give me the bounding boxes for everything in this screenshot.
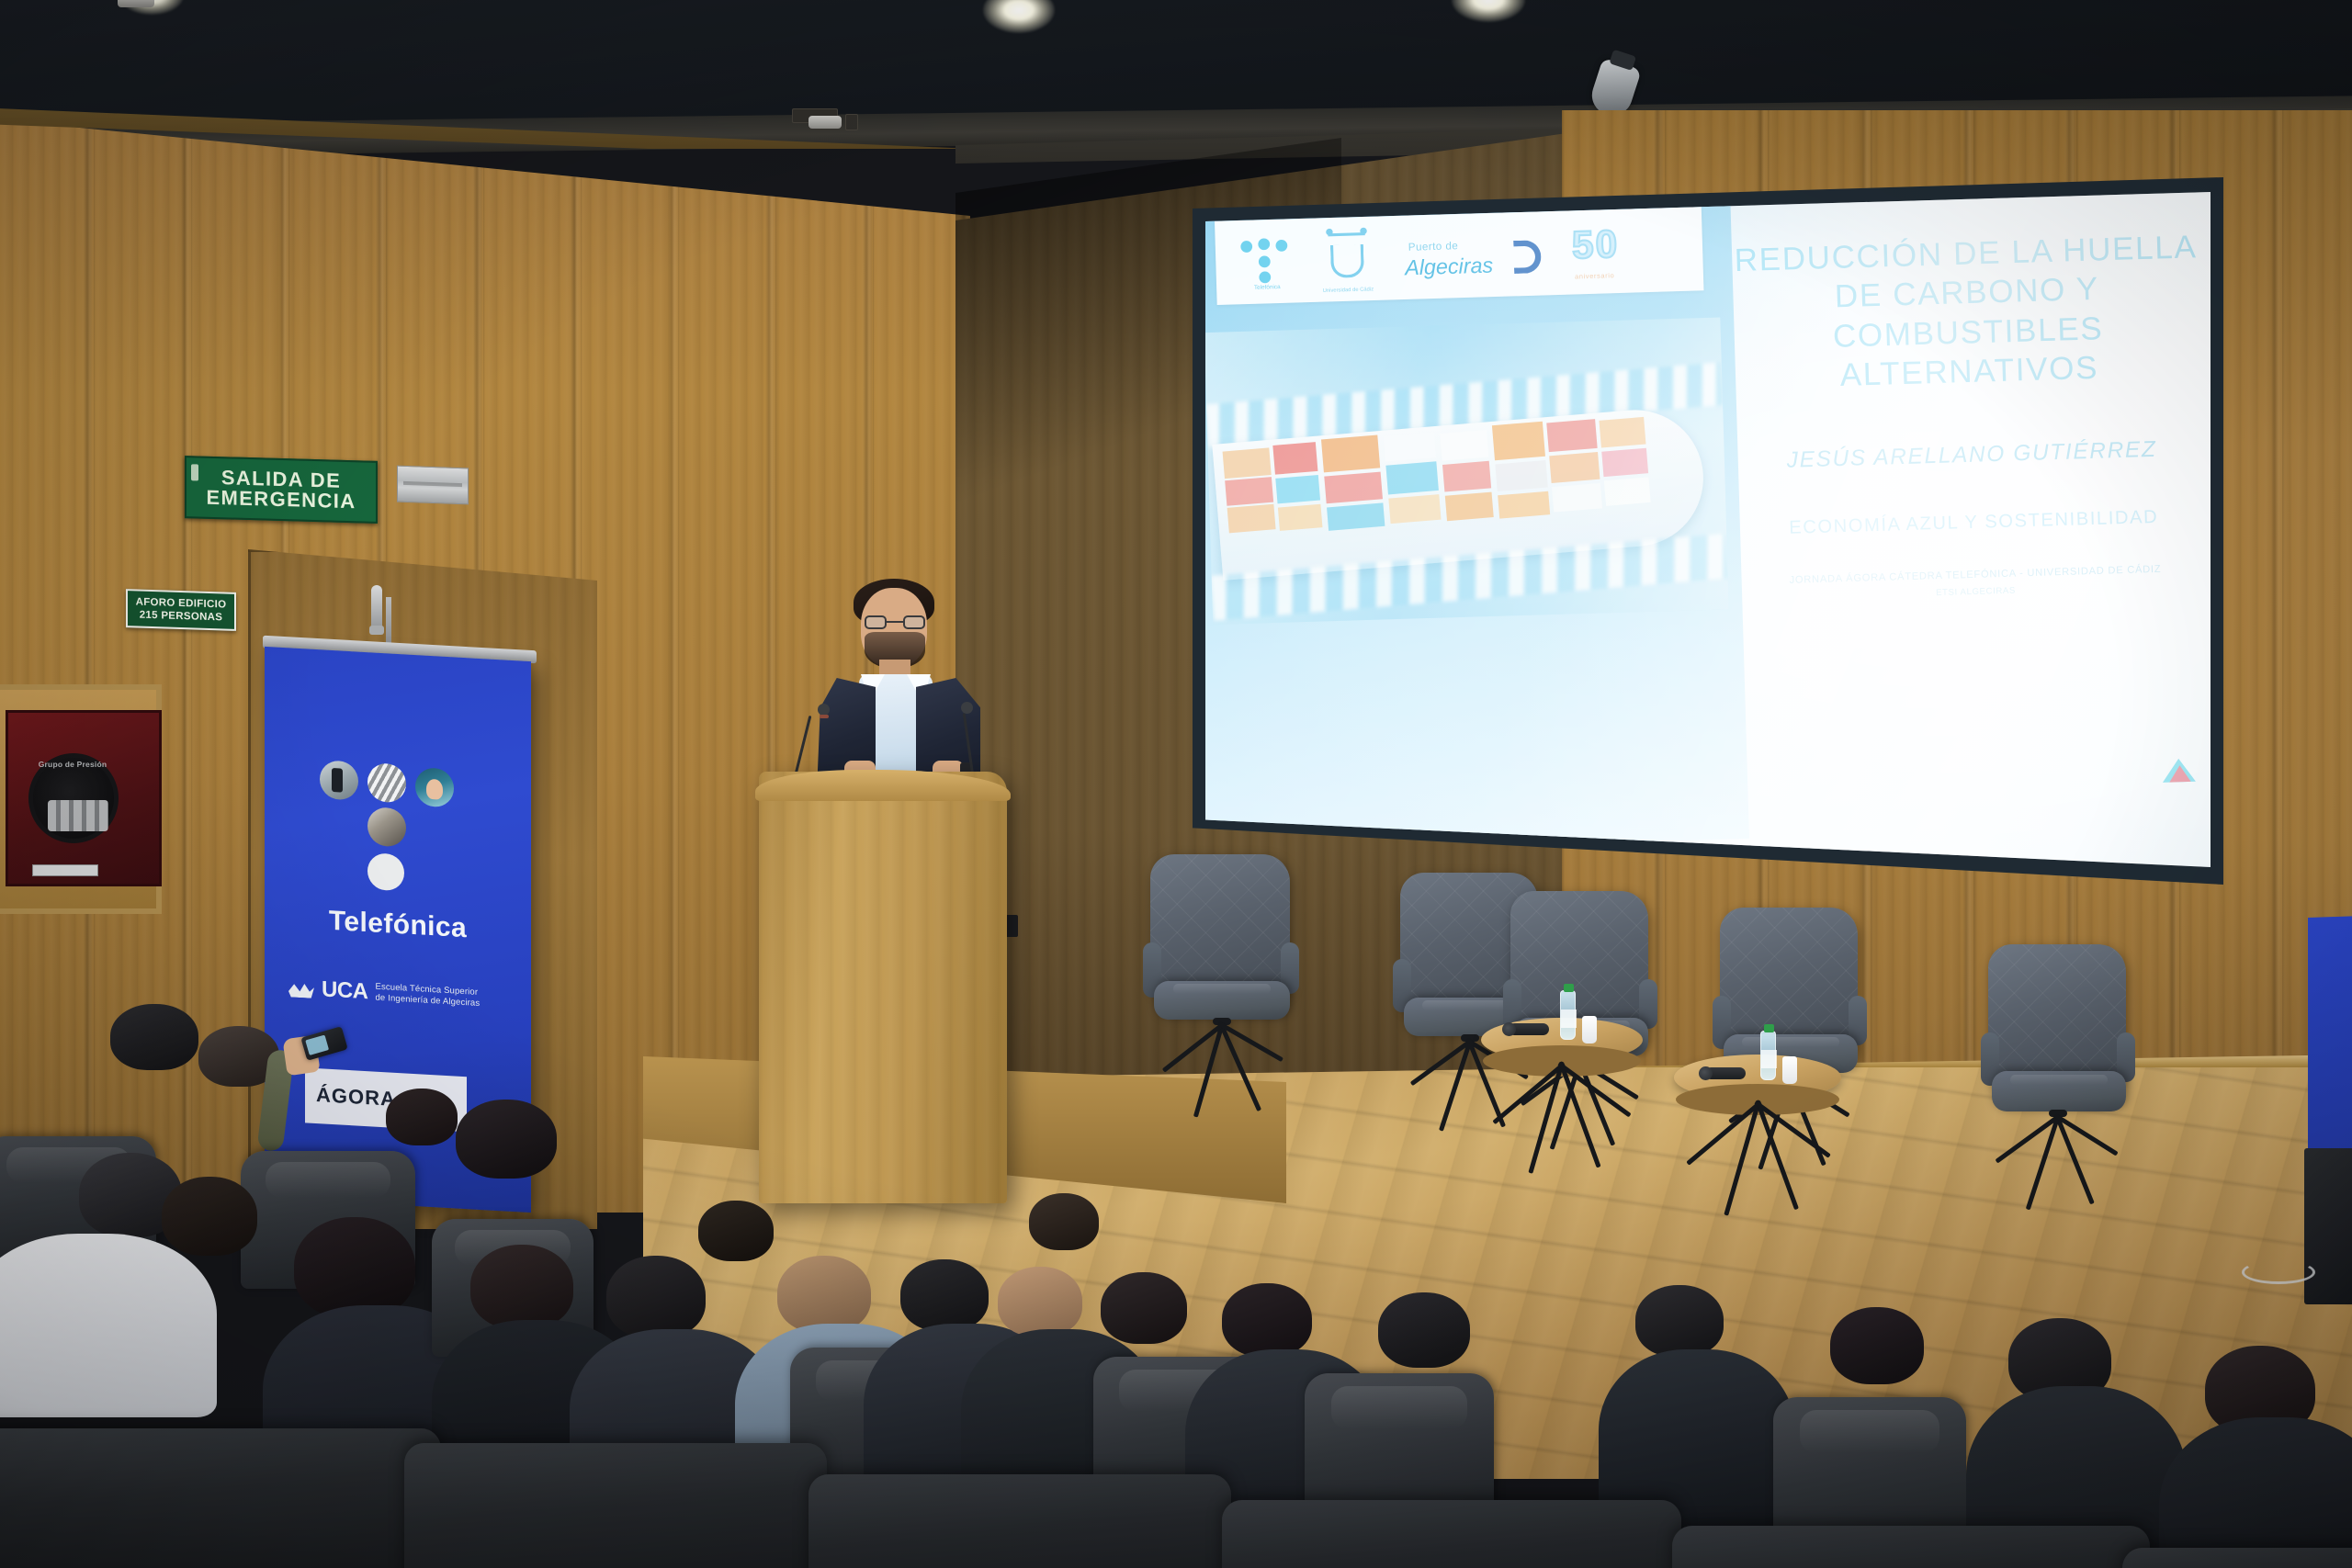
running-person-icon <box>191 464 198 480</box>
emergency-exit-sign: SALIDA DE EMERGENCIA <box>185 456 378 524</box>
slide-subject-line: ECONOMÍA AZUL Y SOSTENIBILIDAD <box>1720 505 2211 542</box>
audience-head <box>900 1259 989 1331</box>
audience-front-row[interactable] <box>1672 1526 2150 1568</box>
audience-head <box>162 1177 257 1256</box>
slide-speaker-name: JESÚS ARELLANO GUTIÉRREZ <box>1718 434 2211 475</box>
audience-head <box>1101 1272 1187 1344</box>
audience-head <box>1378 1292 1470 1368</box>
puerto-logo-top: Puerto de <box>1408 241 1459 254</box>
audience-front-row[interactable] <box>1222 1500 1681 1568</box>
capacity-line2: 215 PERSONAS <box>140 609 223 625</box>
smartphone[interactable] <box>300 1026 347 1061</box>
audience-head <box>386 1089 458 1145</box>
audience-area <box>0 997 2352 1568</box>
anniversary-sub: aniversario <box>1575 273 1614 281</box>
emergency-exit-line2: EMERGENCIA <box>206 488 356 513</box>
puerto-de-algeciras-logo: Puerto de Algeciras <box>1400 226 1548 285</box>
audience-head <box>1222 1283 1312 1357</box>
banner-brand-name: Telefónica <box>265 902 531 948</box>
audience-front-row[interactable] <box>808 1474 1231 1568</box>
banner-photo-texture <box>367 762 406 803</box>
shield-icon <box>1330 244 1364 278</box>
fire-cabinet-label: Grupo de Presión <box>34 761 111 770</box>
slide-logo-bar: Telefónica Universidad de Cádiz Puerto d… <box>1215 207 1703 305</box>
container-ship-photo <box>1205 317 1729 625</box>
crown-icon <box>1328 232 1365 245</box>
audience-head <box>110 1004 198 1070</box>
capacity-sign: AFORO EDIFICIO 215 PERSONAS <box>126 589 236 631</box>
audience-head <box>777 1256 871 1333</box>
audience-head <box>1830 1307 1924 1384</box>
puerto-logo-main: Algeciras <box>1405 253 1494 280</box>
audience-head <box>456 1100 557 1179</box>
audience-shoulders <box>2159 1417 2352 1568</box>
wall-vent-grille <box>397 466 469 505</box>
glasses-icon <box>865 615 925 629</box>
audience-head <box>294 1217 415 1318</box>
telefonica-logo: Telefónica <box>1238 233 1295 289</box>
audience-head <box>1029 1193 1099 1250</box>
banner-dot-plain <box>367 852 404 891</box>
uca-logo-caption: Universidad de Cádiz <box>1317 287 1378 294</box>
slide-title: REDUCCIÓN DE LA HUELLA DE CARBONO Y COMB… <box>1712 227 2211 399</box>
fire-cabinet-interior: Grupo de Presión <box>6 710 162 886</box>
bottle-cap <box>1564 984 1574 992</box>
anniversary-50-logo: 50 aniversario <box>1571 220 1690 280</box>
audience-head <box>470 1245 573 1329</box>
projection-screen: Telefónica Universidad de Cádiz Puerto d… <box>1205 192 2211 867</box>
audience-front-row[interactable] <box>0 1428 441 1568</box>
banner-photo-dots <box>320 760 476 888</box>
banner-photo-crowd <box>367 807 406 847</box>
fire-cabinet-plate <box>32 864 98 876</box>
telefonica-logo-caption: Telefónica <box>1240 284 1295 291</box>
smoke-detector <box>118 0 154 7</box>
auditorium-scene: SALIDA DE EMERGENCIA AFORO EDIFICIO 215 … <box>0 0 2352 1568</box>
door-handle[interactable] <box>371 585 382 633</box>
audience-head <box>606 1256 706 1338</box>
banner-photo-hiker <box>320 760 358 800</box>
audience-head <box>1635 1285 1724 1357</box>
banner-photo-person <box>415 767 454 807</box>
uca-crest-logo: Universidad de Cádiz <box>1318 231 1376 288</box>
triangle-logo-icon <box>2162 758 2196 784</box>
audience-head <box>998 1267 1082 1337</box>
anniversary-number: 50 <box>1571 223 1620 267</box>
smoke-detector <box>808 116 842 129</box>
audience-front-row[interactable] <box>404 1443 827 1568</box>
audience-shoulders <box>0 1234 217 1417</box>
swoosh-icon <box>1513 240 1542 274</box>
presentation-slide: Telefónica Universidad de Cádiz Puerto d… <box>1205 192 2211 867</box>
ceiling-vent <box>845 114 858 130</box>
audience-front-row[interactable] <box>2122 1548 2352 1568</box>
slide-text-block: REDUCCIÓN DE LA HUELLA DE CARBONO Y COMB… <box>1711 192 2211 604</box>
audience-head <box>698 1201 774 1261</box>
fire-hose-cabinet[interactable]: Grupo de Presión <box>0 684 162 914</box>
banner-pole-top <box>386 597 391 649</box>
